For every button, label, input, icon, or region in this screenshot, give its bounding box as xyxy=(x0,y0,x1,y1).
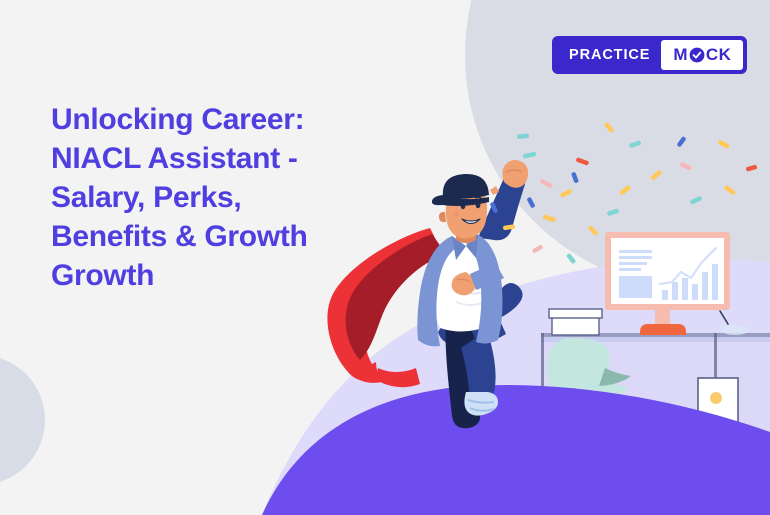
logo-mock-m: M xyxy=(673,45,688,65)
monitor-stand-base xyxy=(640,324,686,335)
character-fist xyxy=(502,160,528,188)
check-in-circle-icon xyxy=(689,47,705,63)
page-title: Unlocking Career: NIACL Assistant - Sala… xyxy=(51,100,426,295)
tower-power-button xyxy=(710,392,722,404)
blog-banner: Unlocking Career: NIACL Assistant - Sala… xyxy=(0,0,770,515)
desk-paper-tray xyxy=(549,309,602,335)
practicemock-logo[interactable]: PRACTICE MCK xyxy=(553,37,746,73)
logo-practice-text: PRACTICE xyxy=(556,40,661,70)
logo-mock-ck: CK xyxy=(706,45,731,65)
logo-mock-block: MCK xyxy=(661,40,743,70)
desk-mousepad xyxy=(721,325,749,335)
